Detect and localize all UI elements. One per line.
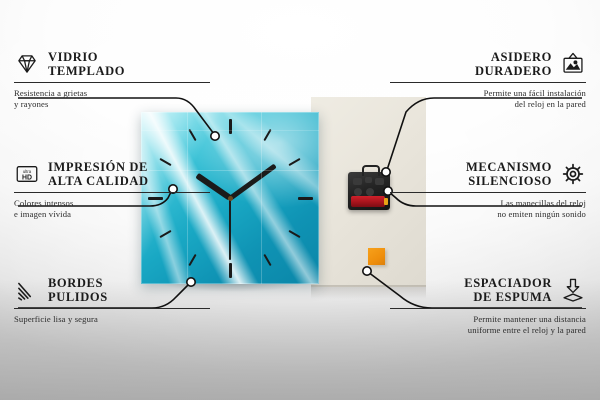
clock-tick: [263, 254, 271, 266]
mechanism-detail: [354, 188, 362, 196]
divider: [14, 308, 210, 309]
feature-header: ultra HD IMPRESIÓN DE ALTA CALIDAD: [14, 160, 210, 188]
feature-title: VIDRIO TEMPLADO: [48, 50, 125, 78]
divider: [14, 82, 210, 83]
feature-description: Permite mantener una distancia uniforme …: [390, 314, 586, 336]
feature-title: BORDES PULIDOS: [48, 276, 108, 304]
foam-spacer: [368, 248, 385, 265]
feature-title: ASIDERO DURADERO: [475, 50, 552, 78]
clock-tick: [188, 129, 196, 141]
feature-description: Permite una fácil instalación del reloj …: [390, 88, 586, 110]
feature-description: Resistencia a grietas y rayones: [14, 88, 210, 110]
clock-tick: [159, 229, 171, 237]
clock-hub: [228, 196, 233, 201]
feature-header: VIDRIO TEMPLADO: [14, 50, 210, 78]
divider: [390, 192, 586, 193]
feature-title: MECANISMO SILENCIOSO: [466, 160, 552, 188]
mechanism-hook: [362, 165, 380, 176]
clock-tick: [229, 119, 232, 134]
ultra-hd-icon: ultra HD: [14, 161, 40, 187]
feature-vidrio-templado: VIDRIO TEMPLADO Resistencia a grietas y …: [14, 50, 210, 110]
battery: [351, 196, 385, 207]
picture-frame-hanger-icon: [560, 51, 586, 77]
divider: [390, 308, 586, 309]
gear-icon: [560, 161, 586, 187]
second-hand: [229, 198, 231, 260]
clock-tick: [263, 129, 271, 141]
divider: [14, 192, 210, 193]
mechanism-detail: [353, 178, 362, 185]
infographic-canvas: VIDRIO TEMPLADO Resistencia a grietas y …: [0, 0, 600, 400]
feature-title: IMPRESIÓN DE ALTA CALIDAD: [48, 160, 149, 188]
mechanism-detail: [375, 178, 384, 185]
press-down-pad-icon: [560, 277, 586, 303]
feature-header: ASIDERO DURADERO: [390, 50, 586, 78]
clock-tick: [298, 197, 313, 200]
feature-description: Las manecillas del reloj no emiten ningú…: [390, 198, 586, 220]
clock-tick: [188, 254, 196, 266]
feature-header: ESPACIADOR DE ESPUMA: [390, 276, 586, 304]
diamond-icon: [14, 51, 40, 77]
polished-edges-icon: [14, 277, 40, 303]
clock-tick: [289, 229, 301, 237]
minute-hand: [229, 163, 277, 200]
mechanism-detail: [365, 177, 372, 183]
feature-description: Superficie lisa y segura: [14, 314, 210, 325]
feature-description: Colores intensos e imagen vívida: [14, 198, 210, 220]
clock-tick: [289, 157, 301, 165]
feature-title: ESPACIADOR DE ESPUMA: [464, 276, 552, 304]
clock-mechanism: [348, 172, 390, 210]
feature-impresion-alta-calidad: ultra HD IMPRESIÓN DE ALTA CALIDAD Color…: [14, 160, 210, 220]
svg-text:ultra: ultra: [23, 169, 32, 174]
feature-asidero-duradero: ASIDERO DURADERO Permite una fácil insta…: [390, 50, 586, 110]
feature-bordes-pulidos: BORDES PULIDOS Superficie lisa y segura: [14, 276, 210, 325]
clock-tick: [229, 263, 232, 278]
divider: [390, 82, 586, 83]
feature-mecanismo-silencioso: MECANISMO SILENCIOSO Las manecillas del …: [390, 160, 586, 220]
svg-text:HD: HD: [22, 174, 32, 181]
mechanism-detail: [366, 188, 374, 196]
battery-terminal: [384, 198, 388, 205]
feature-header: MECANISMO SILENCIOSO: [390, 160, 586, 188]
feature-header: BORDES PULIDOS: [14, 276, 210, 304]
feature-espaciador-de-espuma: ESPACIADOR DE ESPUMA Permite mantener un…: [390, 276, 586, 336]
